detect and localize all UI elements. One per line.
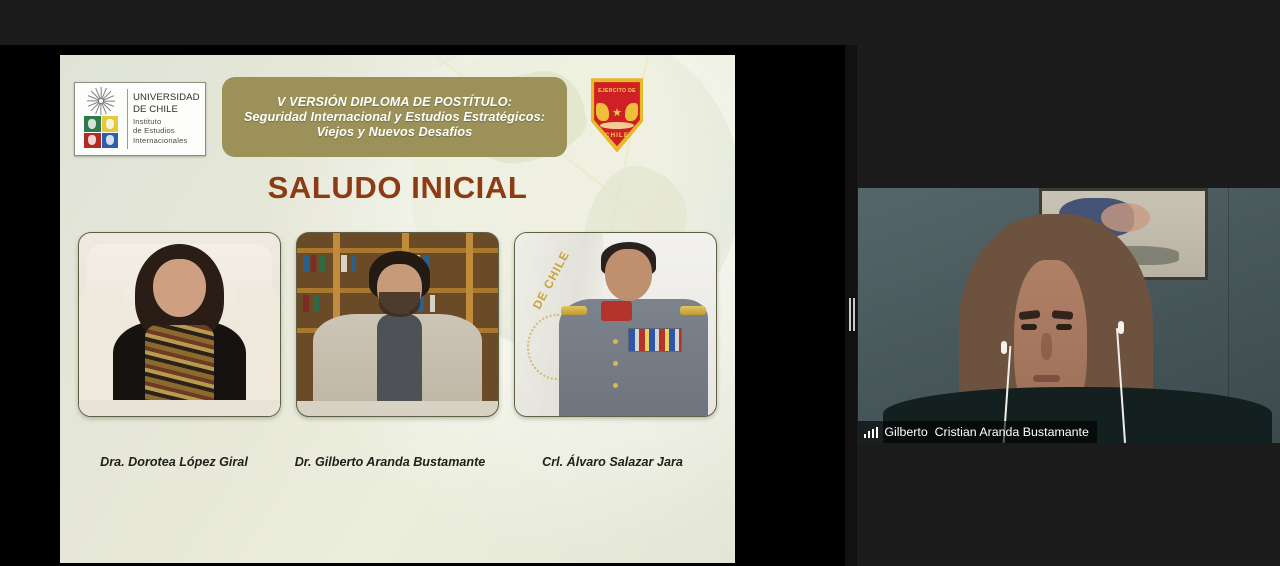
speaker-name-1: Dra. Dorotea López Giral [68,455,280,469]
logo-mark [80,87,122,151]
logo-line-4: de Estudios [133,126,200,136]
banner-line-1: V VERSIÓN DIPLOMA DE POSTÍTULO: [277,95,512,109]
shared-screen-region[interactable]: UNIVERSIDAD DE CHILE Instituto de Estudi… [0,45,852,566]
speaker-photo-2 [296,232,499,417]
participant-video-tile[interactable]: Gilberto Cristian Aranda Bustamante [858,188,1280,443]
speaker-photo-3: DE CHILE [514,232,717,417]
logo-line-1: UNIVERSIDAD [133,92,200,104]
emblem-bottom-text: CHILE [586,132,648,139]
logo-line-2: DE CHILE [133,104,200,116]
speaker-names-row: Dra. Dorotea López Giral Dr. Gilberto Ar… [68,455,728,469]
speaker-name-2: Dr. Gilberto Aranda Bustamante [280,455,500,469]
banner-line-2: Seguridad Internacional y Estudios Estra… [244,110,545,124]
slide-heading: SALUDO INICIAL [60,170,735,206]
drag-handle-icon[interactable] [849,298,856,331]
speaker-photo-1 [78,232,281,417]
speaker-name-3: Crl. Álvaro Salazar Jara [500,455,725,469]
logo-text: UNIVERSIDAD DE CHILE Instituto de Estudi… [133,92,200,146]
logo-line-5: Internacionales [133,136,200,146]
participant-name: Gilberto Cristian Aranda Bustamante [884,425,1089,439]
university-logo: UNIVERSIDAD DE CHILE Instituto de Estudi… [74,82,206,156]
slide-title-banner: V VERSIÓN DIPLOMA DE POSTÍTULO: Segurida… [222,77,567,157]
university-crest-icon [84,116,118,148]
banner-line-3: Viejos y Nuevos Desafíos [317,125,473,139]
audio-level-bars-icon [864,427,878,438]
earbud-icon [1001,341,1007,354]
sun-starburst-icon [87,87,115,115]
earbud-icon [1118,321,1124,334]
participant-name-bar: Gilberto Cristian Aranda Bustamante [858,421,1097,443]
chilean-army-shield-icon: EJERCITO DE CHILE [586,75,648,155]
presentation-slide: UNIVERSIDAD DE CHILE Instituto de Estudi… [60,55,735,563]
logo-line-3: Instituto [133,117,200,127]
video-panel: Gilberto Cristian Aranda Bustamante [858,45,1280,566]
emblem-top-text: EJERCITO DE [586,88,648,94]
logo-divider [127,89,128,149]
zoom-meeting-window: UNIVERSIDAD DE CHILE Instituto de Estudi… [0,0,1280,566]
speaker-photo-row: DE CHILE [78,232,717,417]
